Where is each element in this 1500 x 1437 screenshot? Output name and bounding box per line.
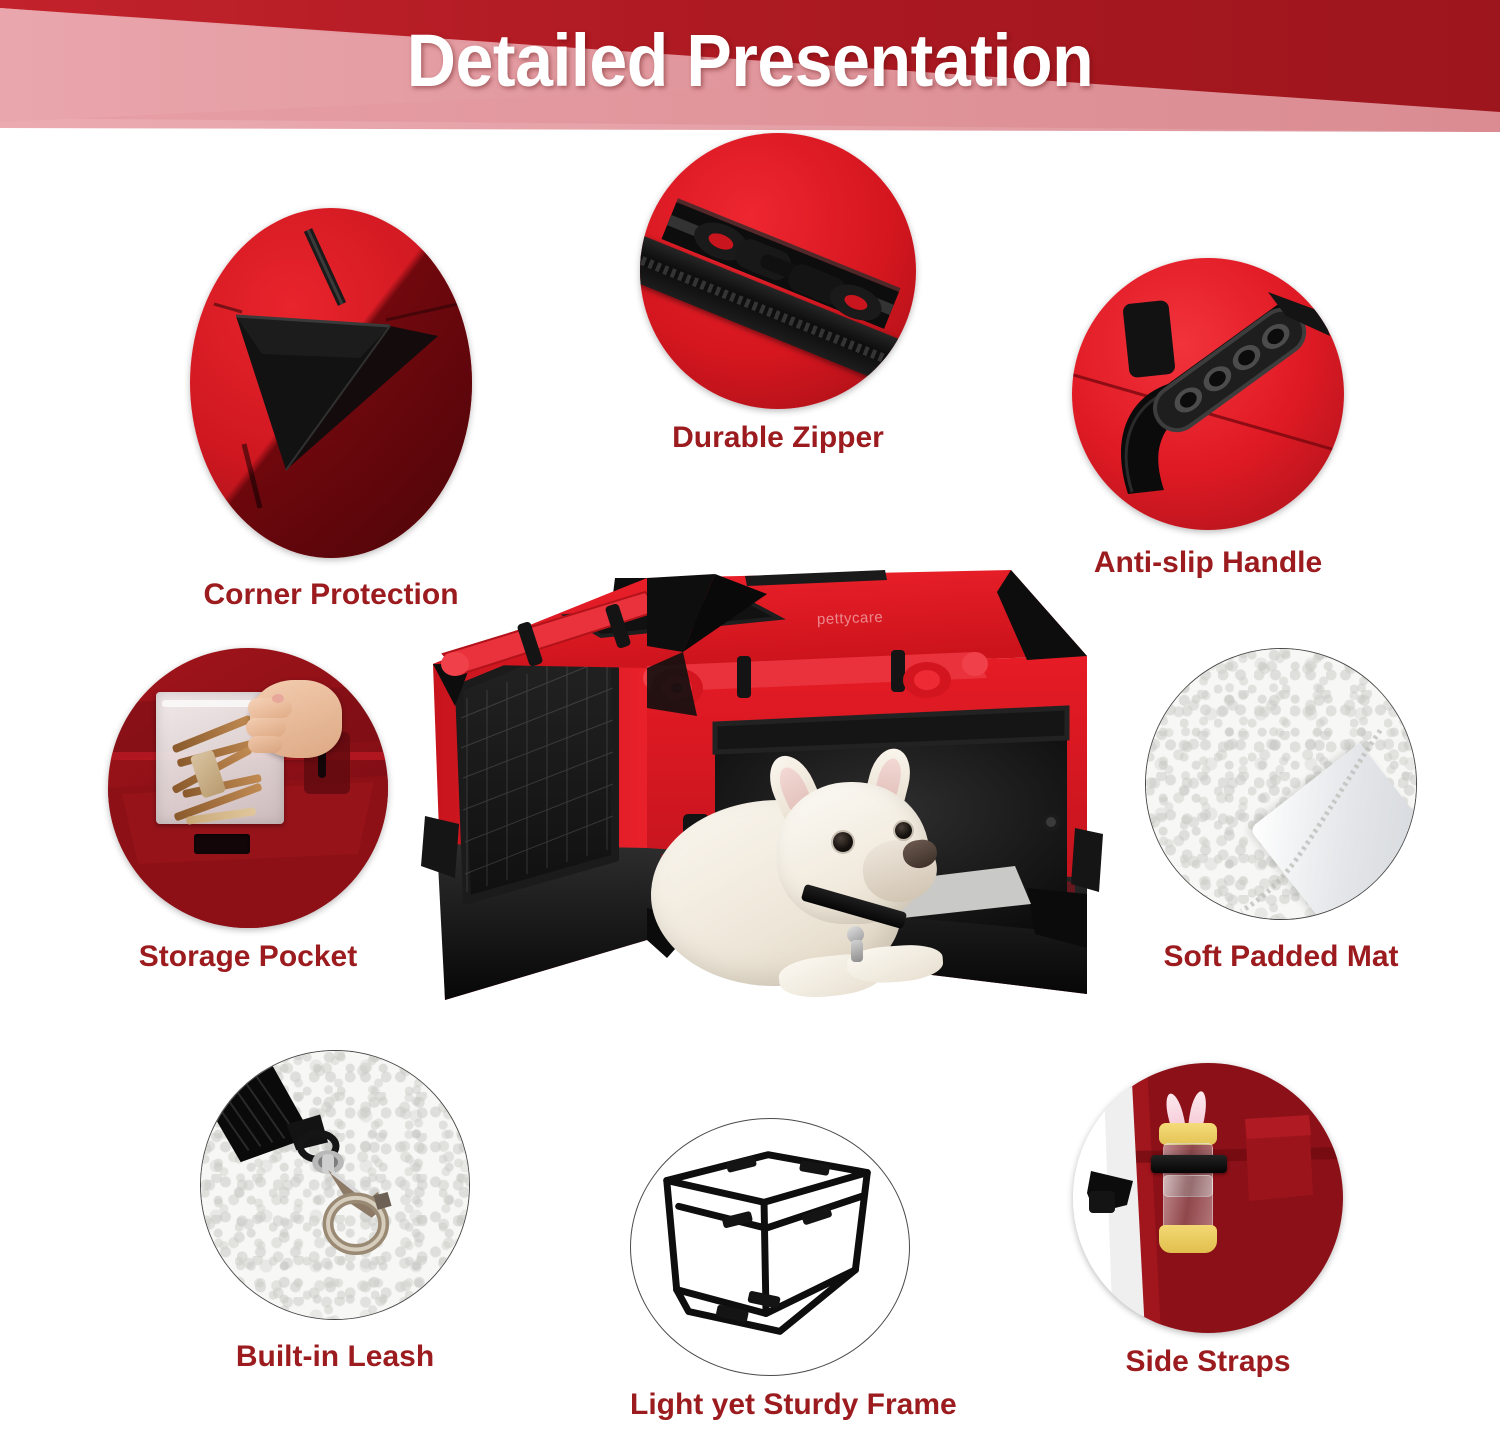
corner-triangle-shape	[190, 208, 472, 558]
dog-french-bulldog	[651, 748, 1051, 1048]
fleece-mat-icon	[1145, 648, 1417, 920]
feature-light-sturdy-frame: Light yet Sturdy Frame	[630, 1118, 910, 1376]
elastic-strap	[1151, 1155, 1227, 1173]
dog-eye-left	[833, 832, 853, 852]
feature-label: Built-in Leash	[200, 1340, 470, 1374]
feature-label: Side Straps	[1073, 1345, 1343, 1379]
leash-shape	[201, 1051, 469, 1319]
feature-storage-pocket: Storage Pocket	[108, 648, 388, 928]
zipper-pulls	[640, 133, 916, 409]
leash-hook-icon	[200, 1050, 470, 1320]
dog-eye-right	[895, 822, 912, 839]
feature-anti-slip-handle: Anti-slip Handle	[1072, 258, 1344, 530]
feature-label: Soft Padded Mat	[1145, 940, 1417, 974]
feature-built-in-leash: Built-in Leash	[200, 1050, 470, 1320]
product-image-pet-crate: pettycare	[415, 548, 1105, 1068]
bottle-strap-icon	[1073, 1063, 1343, 1333]
frame-shape	[631, 1119, 909, 1375]
pocket-icon	[108, 648, 388, 928]
feature-corner-protection: Corner Protection	[190, 208, 472, 558]
feature-side-straps: Side Straps	[1073, 1063, 1343, 1333]
hand	[250, 680, 342, 758]
mat-edge	[1146, 649, 1416, 919]
dog-collar-chain	[851, 940, 863, 962]
zipper-icon	[640, 133, 916, 409]
pocket-slot	[194, 834, 250, 854]
feature-label: Light yet Sturdy Frame	[630, 1388, 910, 1422]
feature-label: Durable Zipper	[640, 421, 916, 455]
header-banner: Detailed Presentation	[0, 0, 1500, 132]
feature-durable-zipper: Durable Zipper	[640, 133, 916, 409]
steel-frame-icon	[630, 1118, 910, 1376]
feature-soft-padded-mat: Soft Padded Mat	[1145, 648, 1417, 920]
feature-label: Storage Pocket	[108, 940, 388, 974]
brand-logo: pettycare	[817, 609, 884, 628]
handle-grip-icon	[1072, 258, 1344, 530]
handle-shape	[1072, 258, 1344, 530]
corner-patch-icon	[190, 208, 472, 558]
feature-label: Anti-slip Handle	[1072, 546, 1344, 580]
page-title: Detailed Presentation	[60, 18, 1440, 103]
